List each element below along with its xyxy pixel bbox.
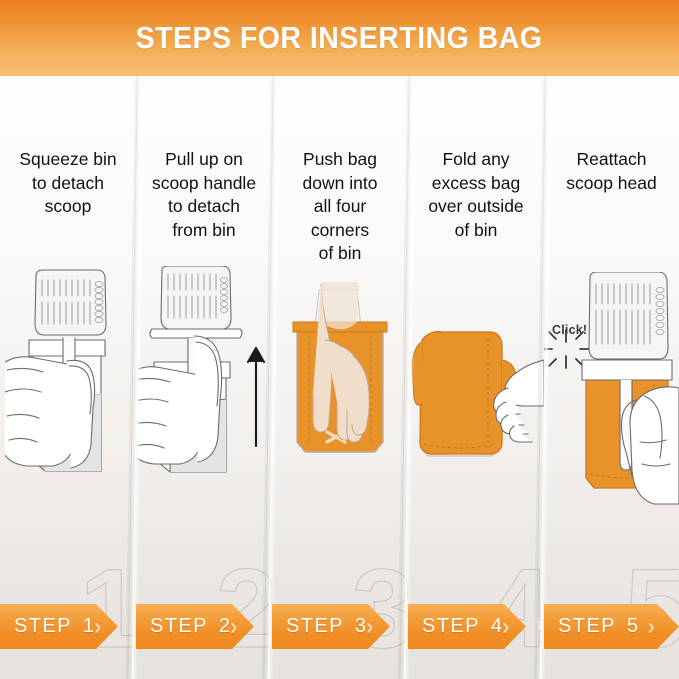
chevron-right-icon: › bbox=[502, 615, 510, 638]
step-caption-4: Fold any excess bag over outside of bin bbox=[408, 76, 544, 242]
step-banner-number: 2 bbox=[219, 615, 230, 638]
step-panel-3: Push bag down into all four corners of b… bbox=[272, 76, 408, 679]
caption-line: over outside bbox=[408, 195, 544, 219]
chevron-right-icon: › bbox=[230, 615, 238, 638]
step-panel-2: Pull up on scoop handle to detach from b… bbox=[136, 76, 272, 679]
caption-line: Pull up on bbox=[136, 148, 272, 172]
step-panel-4: Fold any excess bag over outside of bin bbox=[408, 76, 544, 679]
caption-line: scoop head bbox=[544, 172, 679, 196]
caption-line: to detach bbox=[0, 172, 136, 196]
step-banner-number: 1 bbox=[83, 615, 94, 638]
chevron-right-icon: › bbox=[647, 615, 655, 638]
caption-line: corners bbox=[272, 219, 408, 243]
step-banner-number: 3 bbox=[355, 615, 366, 638]
step-banner-row: STEP 1 › STEP 2 › STEP 3 › STEP 4 › STEP… bbox=[0, 604, 679, 652]
caption-line: from bin bbox=[136, 219, 272, 243]
step-banner-2[interactable]: STEP 2 › bbox=[136, 604, 254, 649]
caption-line: of bin bbox=[408, 219, 544, 243]
page-title: STEPS FOR INSERTING BAG bbox=[136, 20, 543, 56]
step-banner-label: STEP bbox=[558, 615, 616, 638]
steps-strip: Squeeze bin to detach scoop bbox=[0, 76, 679, 679]
caption-line: down into bbox=[272, 172, 408, 196]
instruction-graphic: STEPS FOR INSERTING BAG Squeeze bin to d… bbox=[0, 0, 679, 679]
step-panel-5: Reattach scoop head Click! bbox=[544, 76, 679, 679]
step-banner-label: STEP bbox=[286, 615, 344, 638]
step-panel-1: Squeeze bin to detach scoop bbox=[0, 76, 136, 679]
step-banner-label: STEP bbox=[422, 615, 480, 638]
step-caption-5: Reattach scoop head bbox=[544, 76, 679, 195]
caption-line: all four bbox=[272, 195, 408, 219]
step-caption-2: Pull up on scoop handle to detach from b… bbox=[136, 76, 272, 242]
step-banner-label: STEP bbox=[150, 615, 208, 638]
step-banner-number: 5 bbox=[627, 615, 638, 638]
chevron-right-icon: › bbox=[366, 615, 374, 638]
caption-line: excess bag bbox=[408, 172, 544, 196]
step-banner-4[interactable]: STEP 4 › bbox=[408, 604, 526, 649]
caption-line: Fold any bbox=[408, 148, 544, 172]
step-caption-1: Squeeze bin to detach scoop bbox=[0, 76, 136, 219]
caption-line: scoop handle bbox=[136, 172, 272, 196]
caption-line: of bin bbox=[272, 242, 408, 266]
caption-line: Reattach bbox=[544, 148, 679, 172]
header-banner: STEPS FOR INSERTING BAG bbox=[0, 0, 679, 76]
illustration-hand-squeezing-bin bbox=[0, 266, 136, 566]
step-caption-3: Push bag down into all four corners of b… bbox=[272, 76, 408, 266]
illustration-reattaching-scoop-head bbox=[544, 272, 679, 572]
step-banner-1[interactable]: STEP 1 › bbox=[0, 604, 118, 649]
illustration-hand-pushing-bag-into-bin bbox=[272, 282, 408, 582]
step-banner-number: 4 bbox=[491, 615, 502, 638]
caption-line: to detach bbox=[136, 195, 272, 219]
chevron-right-icon: › bbox=[94, 615, 102, 638]
caption-line: scoop bbox=[0, 195, 136, 219]
caption-line: Push bag bbox=[272, 148, 408, 172]
step-banner-3[interactable]: STEP 3 › bbox=[272, 604, 390, 649]
illustration-hand-pulling-scoop-up bbox=[136, 266, 272, 566]
caption-line: Squeeze bin bbox=[0, 148, 136, 172]
step-banner-label: STEP bbox=[14, 615, 72, 638]
step-banner-5[interactable]: STEP 5 › bbox=[544, 604, 679, 649]
